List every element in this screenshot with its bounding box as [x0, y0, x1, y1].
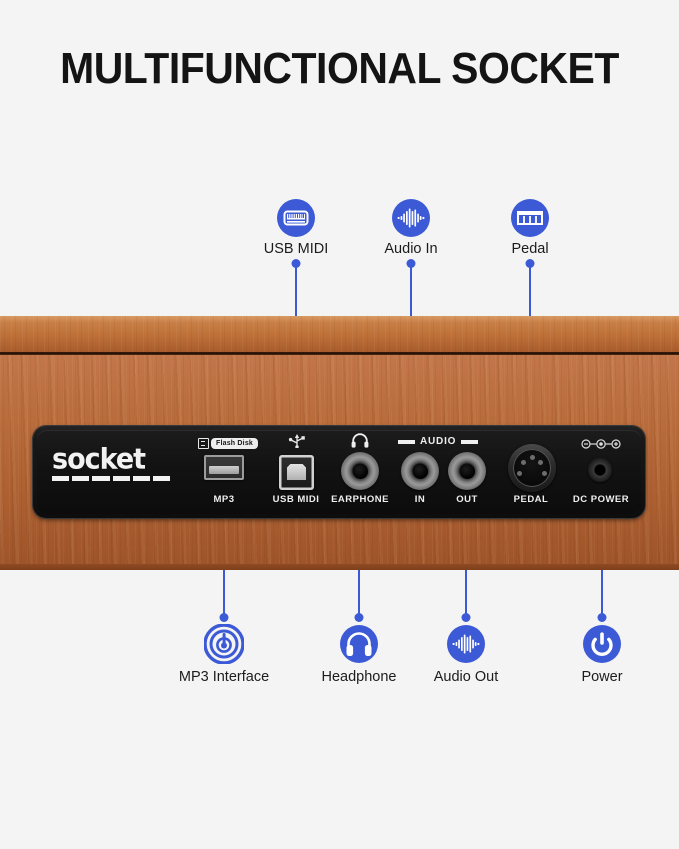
din-pin	[530, 455, 535, 460]
waveform-icon	[391, 198, 431, 238]
usb-trident-icon	[286, 434, 308, 448]
callout-label-mp3-interface: MP3 Interface	[179, 669, 269, 685]
port-label-mp3: MP3	[213, 494, 234, 505]
jack-audio-in[interactable]	[401, 452, 439, 490]
leader-line-headphone	[358, 570, 360, 618]
din-connector-pedal[interactable]	[508, 444, 556, 492]
din-pin	[542, 471, 547, 476]
wood-top-strip	[0, 316, 679, 352]
usb-b-port-midi[interactable]	[279, 455, 314, 490]
port-label-usb-midi: USB MIDI	[273, 494, 320, 505]
page-title: MULTIFUNCTIONAL SOCKET	[24, 44, 655, 94]
socket-brand-underline	[52, 476, 170, 481]
infographic-page: MULTIFUNCTIONAL SOCKET USB MIDI	[0, 0, 679, 849]
port-label-audio-out: OUT	[456, 494, 478, 505]
dc-polarity-icon	[581, 437, 621, 449]
audio-rule-right	[461, 440, 478, 444]
socket-brand-text: socket	[52, 445, 182, 473]
leader-dot-headphone	[355, 613, 364, 622]
leader-dot-audio-out	[462, 613, 471, 622]
jack-earphone[interactable]	[341, 452, 379, 490]
leader-line-mp3	[223, 570, 225, 618]
leader-dot-power	[598, 613, 607, 622]
callout-label-usb-midi: USB MIDI	[264, 241, 328, 257]
dc-power-jack[interactable]	[588, 458, 612, 482]
usb-midi-icon	[276, 198, 316, 238]
port-label-pedal: PEDAL	[514, 494, 549, 505]
audio-group-header: AUDIO	[398, 437, 478, 447]
jack-audio-out[interactable]	[448, 452, 486, 490]
callout-label-audio-in: Audio In	[384, 241, 437, 257]
headphone-glyph-icon	[351, 433, 369, 448]
waveform-out-icon	[446, 624, 486, 664]
audio-rule-left	[398, 440, 415, 444]
socket-brand-logo: socket	[52, 446, 182, 481]
flash-disk-label: Flash Disk	[211, 438, 258, 449]
port-label-audio-in: IN	[415, 494, 426, 505]
din-pin	[517, 471, 522, 476]
flash-disk-badge: Flash Disk	[198, 438, 258, 449]
pedal-icon	[510, 198, 550, 238]
port-label-earphone: EARPHONE	[331, 494, 389, 505]
din-pin	[521, 460, 526, 465]
callout-label-headphone: Headphone	[322, 669, 397, 685]
leader-dot-mp3	[220, 613, 229, 622]
port-label-dc-power: DC POWER	[573, 494, 629, 505]
callout-label-pedal: Pedal	[511, 241, 548, 257]
flash-disk-icon	[198, 438, 209, 449]
callout-label-audio-out: Audio Out	[434, 669, 499, 685]
headphone-icon	[339, 624, 379, 664]
leader-line-audio-out	[465, 570, 467, 618]
leader-line-power	[601, 570, 603, 618]
power-icon	[582, 624, 622, 664]
audio-group-label: AUDIO	[420, 437, 456, 447]
din-pin	[538, 460, 543, 465]
callout-label-power: Power	[581, 669, 622, 685]
disc-icon	[204, 624, 244, 664]
wood-bottom-edge	[0, 564, 679, 570]
usb-a-port-mp3[interactable]	[204, 455, 244, 480]
